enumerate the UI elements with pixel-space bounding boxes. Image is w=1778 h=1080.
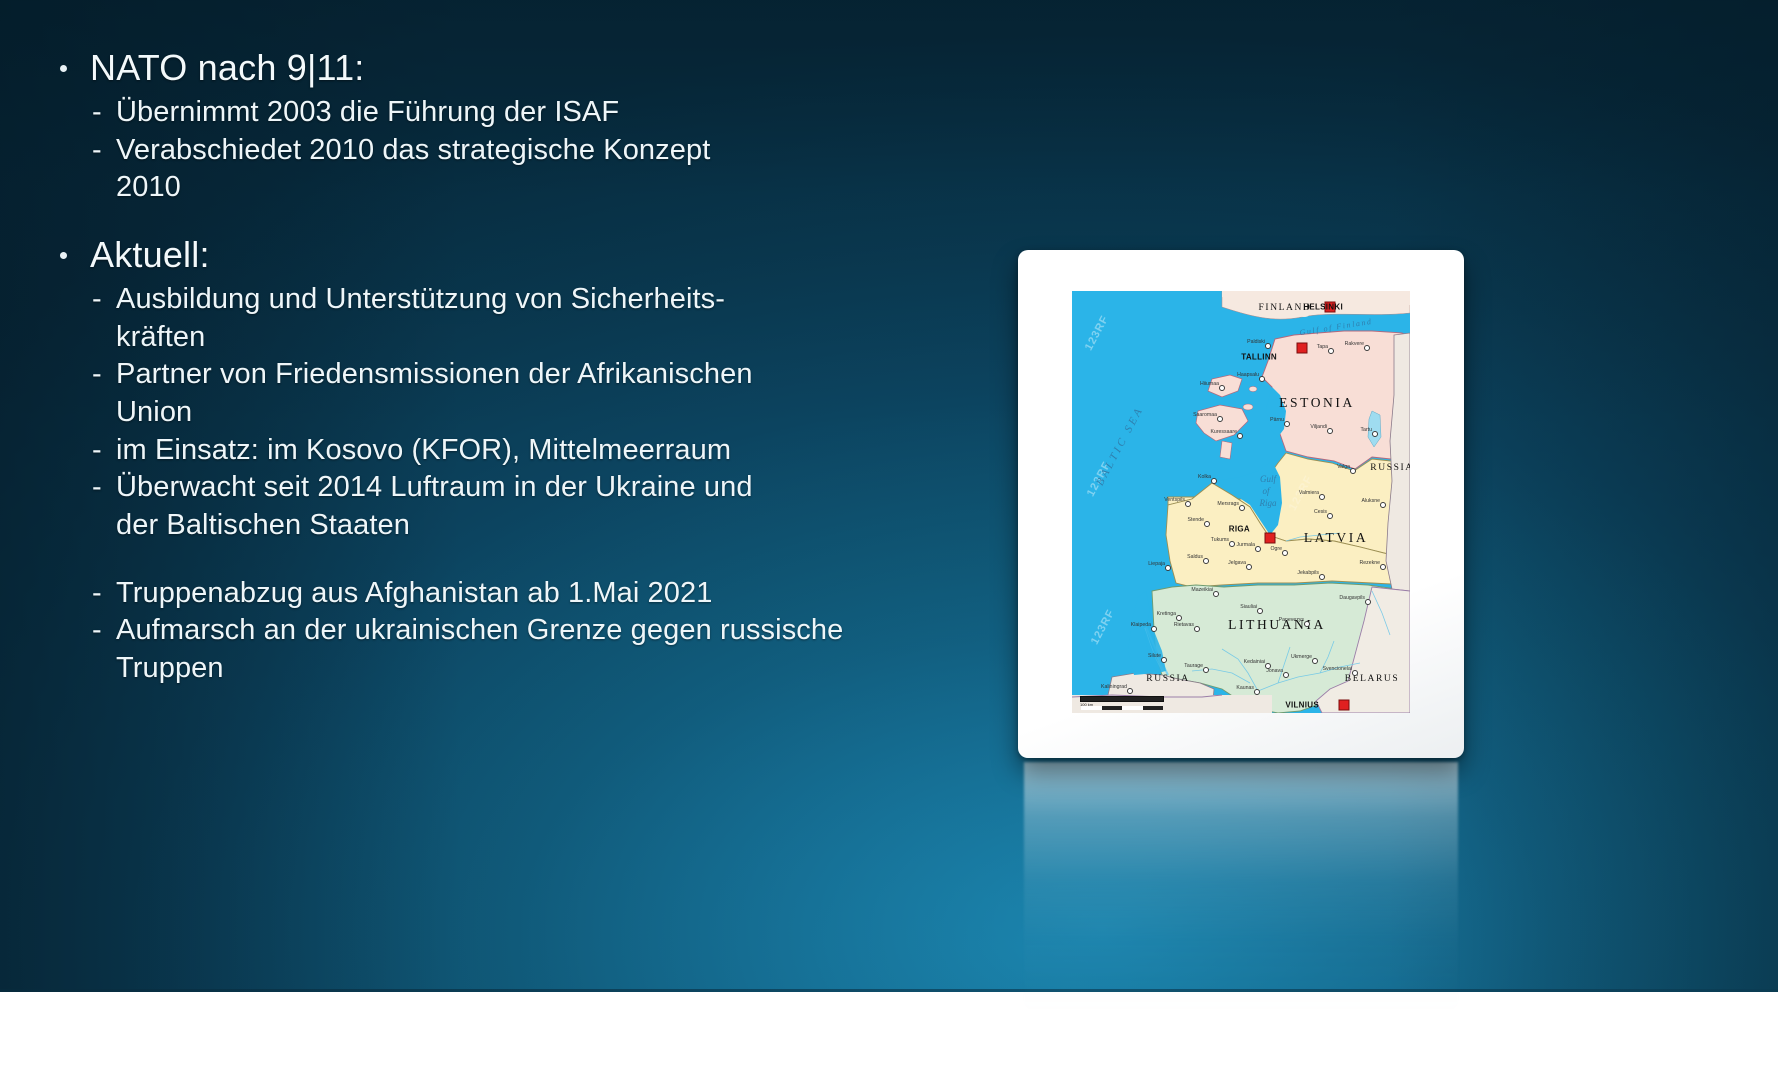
map-city-dot-icon	[1319, 574, 1325, 580]
sub-bullet-line: Partner von Friedensmissionen der Afrika…	[116, 358, 753, 390]
map-city-label: Mersrags	[1217, 501, 1239, 507]
map-capital-label: VILNIUS	[1285, 701, 1319, 710]
dash-icon: -	[92, 94, 102, 132]
map-city-dot-icon	[1151, 626, 1157, 632]
sub-bullet-line-cont: Truppen	[116, 650, 988, 688]
map-city-label: Tapa	[1317, 344, 1328, 350]
spacer	[48, 545, 988, 575]
sub-bullet-ueberwacht: - Überwacht seit 2014 Luftraum in der Uk…	[48, 469, 988, 544]
map-city-label: Kretinga	[1157, 611, 1176, 617]
dash-icon: -	[92, 281, 102, 319]
map-city-label: Aluksne	[1362, 498, 1380, 504]
bullet-level1-aktuell: Aktuell:	[48, 233, 988, 277]
map-city-dot-icon	[1203, 667, 1209, 673]
map-city-dot-icon	[1204, 521, 1210, 527]
map-city-label: Cesis	[1314, 509, 1327, 515]
map-city-label: Rietavas	[1174, 622, 1194, 628]
map-capital-label: TALLINN	[1241, 353, 1277, 362]
map-city-dot-icon	[1257, 608, 1263, 614]
map-city-label: Jekabpils	[1297, 570, 1319, 576]
map-country-label: RUSSIA	[1370, 463, 1410, 473]
sub-bullet-line-cont: 2010	[116, 169, 988, 207]
map-city-label: Klaipeda	[1131, 622, 1151, 628]
map-city-label: Daugavpils	[1339, 595, 1365, 601]
map-city-label: Saldus	[1187, 554, 1203, 560]
map-city-dot-icon	[1304, 621, 1310, 627]
baltic-states-map-image: 123RF 123RF 123RF 123RF BALTIC SEAGulf o…	[1072, 291, 1410, 713]
presentation-slide: NATO nach 9|11: - Übernimmt 2003 die Füh…	[0, 0, 1778, 1080]
map-city-label: Stende	[1188, 517, 1204, 523]
map-city-dot-icon	[1229, 541, 1235, 547]
map-city-dot-icon	[1283, 672, 1289, 678]
map-city-dot-icon	[1372, 431, 1378, 437]
map-city-label: Hiiumaa	[1200, 381, 1219, 387]
sub-bullet-line-cont: Union	[116, 394, 988, 432]
picture-placeholder[interactable]: 123RF 123RF 123RF 123RF BALTIC SEAGulf o…	[1018, 250, 1464, 758]
map-city-dot-icon	[1239, 505, 1245, 511]
map-city-label: Saaromaa	[1193, 412, 1217, 418]
map-country-label: LATVIA	[1304, 530, 1368, 546]
map-city-dot-icon	[1364, 345, 1370, 351]
map-city-dot-icon	[1211, 478, 1217, 484]
map-city-dot-icon	[1176, 615, 1182, 621]
map-city-dot-icon	[1365, 599, 1371, 605]
map-city-dot-icon	[1259, 376, 1265, 382]
map-city-label: Ventspils	[1164, 497, 1185, 503]
map-city-dot-icon	[1127, 688, 1133, 694]
map-city-label: Liepaja	[1148, 561, 1165, 567]
bullet-dot-icon	[60, 252, 67, 259]
dash-icon: -	[92, 612, 102, 650]
sub-bullet-isaf: - Übernimmt 2003 die Führung der ISAF	[48, 94, 988, 132]
sub-bullet-ausbildung: - Ausbildung und Unterstützung von Siche…	[48, 281, 988, 356]
map-city-dot-icon	[1328, 348, 1334, 354]
slide-body-text: NATO nach 9|11: - Übernimmt 2003 die Füh…	[48, 46, 988, 688]
map-capital-marker-icon	[1339, 700, 1350, 711]
map-city-dot-icon	[1312, 658, 1318, 664]
map-city-dot-icon	[1350, 468, 1356, 474]
map-capital-label: RIGA	[1229, 525, 1250, 534]
map-city-dot-icon	[1284, 421, 1290, 427]
picture-reflection	[1024, 762, 1458, 1012]
map-city-label: Viljandi	[1310, 424, 1327, 430]
map-city-dot-icon	[1327, 428, 1333, 434]
map-city-label: Tukums	[1211, 537, 1229, 543]
map-city-label: Kaliningrad	[1101, 684, 1127, 690]
map-city-label: Jurmala	[1237, 542, 1255, 548]
slide-bottom-white-band	[0, 992, 1778, 1080]
map-city-label: Jelgava	[1228, 560, 1246, 566]
dash-icon: -	[92, 132, 102, 170]
map-water-label: Gulf	[1260, 474, 1276, 484]
map-capital-label: HELSINKI	[1303, 303, 1343, 312]
sub-bullet-truppenabzug: - Truppenabzug aus Afghanistan ab 1.Mai …	[48, 575, 988, 613]
bullet-level1-label: NATO nach 9|11:	[90, 47, 365, 88]
map-country-label: RUSSIA	[1146, 674, 1189, 684]
map-city-dot-icon	[1352, 670, 1358, 676]
map-city-dot-icon	[1246, 564, 1252, 570]
map-city-label: Kedainiai	[1244, 659, 1265, 665]
spacer	[48, 207, 988, 233]
map-city-dot-icon	[1185, 501, 1191, 507]
map-city-label: Siauliai	[1240, 604, 1257, 610]
bullet-level1-nato: NATO nach 9|11:	[48, 46, 988, 90]
map-city-label: Kolka	[1198, 474, 1211, 480]
sub-bullet-line: im Einsatz: im Kosovo (KFOR), Mittelmeer…	[116, 434, 731, 466]
map-city-label: Rakvere	[1345, 341, 1364, 347]
map-city-dot-icon	[1165, 565, 1171, 571]
dash-icon: -	[92, 575, 102, 613]
map-city-label: Ukmerge	[1291, 654, 1312, 660]
sub-bullet-einsatz: - im Einsatz: im Kosovo (KFOR), Mittelme…	[48, 432, 988, 470]
map-city-dot-icon	[1380, 502, 1386, 508]
map-city-dot-icon	[1161, 657, 1167, 663]
sub-bullet-line: Verabschiedet 2010 das strategische Konz…	[116, 134, 710, 166]
map-city-dot-icon	[1255, 546, 1261, 552]
dash-icon: -	[92, 469, 102, 507]
map-city-dot-icon	[1327, 513, 1333, 519]
map-city-dot-icon	[1265, 343, 1271, 349]
map-city-label: Kuressaare	[1210, 429, 1237, 435]
map-city-dot-icon	[1254, 689, 1260, 695]
map-city-dot-icon	[1237, 433, 1243, 439]
dash-icon: -	[92, 432, 102, 470]
dash-icon: -	[92, 356, 102, 394]
map-city-label: Valmiera	[1299, 490, 1319, 496]
map-country-label: ESTONIA	[1279, 395, 1355, 411]
bullet-level1-label: Aktuell:	[90, 234, 210, 275]
map-city-label: Pärnu	[1270, 417, 1284, 423]
map-country-label: LITHUANIA	[1228, 617, 1326, 633]
sub-bullet-konzept: - Verabschiedet 2010 das strategische Ko…	[48, 132, 988, 207]
map-city-label: Silute	[1148, 653, 1161, 659]
sub-bullet-line-cont: der Baltischen Staaten	[116, 507, 988, 545]
map-city-label: Mazeikiai	[1191, 587, 1213, 593]
map-capital-marker-icon	[1297, 343, 1308, 354]
sub-bullet-line: Aufmarsch an der ukrainischen Grenze geg…	[116, 614, 843, 646]
map-city-label: Kaunas	[1236, 685, 1254, 691]
map-city-dot-icon	[1219, 385, 1225, 391]
map-city-label: Svencionelai	[1323, 666, 1352, 672]
map-city-label: Ogre	[1270, 546, 1282, 552]
map-city-dot-icon	[1319, 494, 1325, 500]
map-city-label: Panevezys	[1279, 617, 1304, 623]
map-city-label: Valga	[1337, 464, 1350, 470]
sub-bullet-line: Truppenabzug aus Afghanistan ab 1.Mai 20…	[116, 577, 712, 609]
sub-bullet-line-cont: kräften	[116, 319, 988, 357]
map-city-dot-icon	[1282, 550, 1288, 556]
map-city-label: Jonava	[1266, 668, 1283, 674]
sub-bullet-partner: - Partner von Friedensmissionen der Afri…	[48, 356, 988, 431]
map-city-dot-icon	[1380, 564, 1386, 570]
map-city-label: Taurage	[1184, 663, 1203, 669]
sub-bullet-line: Überwacht seit 2014 Luftraum in der Ukra…	[116, 471, 753, 503]
bullet-dot-icon	[60, 65, 67, 72]
map-city-dot-icon	[1217, 416, 1223, 422]
picture-frame: 123RF 123RF 123RF 123RF BALTIC SEAGulf o…	[1018, 250, 1464, 758]
map-city-label: Tartu	[1360, 427, 1372, 433]
map-city-label: Haapsalu	[1237, 372, 1259, 378]
map-water-label: of	[1262, 486, 1269, 496]
sub-bullet-line: Ausbildung und Unterstützung von Sicherh…	[116, 283, 725, 315]
map-city-dot-icon	[1213, 591, 1219, 597]
sub-bullet-aufmarsch: - Aufmarsch an der ukrainischen Grenze g…	[48, 612, 988, 687]
map-city-dot-icon	[1194, 626, 1200, 632]
map-city-label: Paldiski	[1247, 339, 1265, 345]
sub-bullet-line: Übernimmt 2003 die Führung der ISAF	[116, 96, 619, 128]
map-water-label: Riga	[1260, 498, 1277, 508]
map-scale-bar: 100 km	[1080, 696, 1164, 707]
map-city-dot-icon	[1203, 558, 1209, 564]
map-city-label: Rezekne	[1360, 560, 1380, 566]
map-capital-marker-icon	[1265, 533, 1276, 544]
